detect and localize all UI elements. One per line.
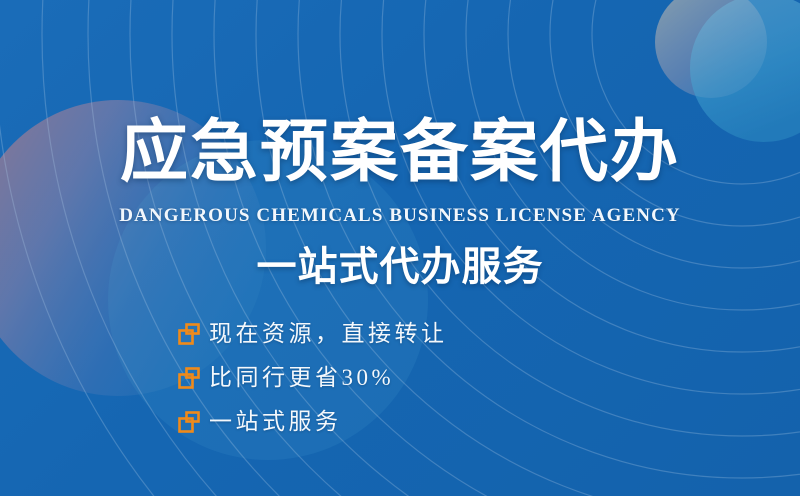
- feature-list: 现在资源，直接转让 比同行更省30% 一站式: [178, 316, 638, 448]
- promo-banner: 应急预案备案代办 DANGEROUS CHEMICALS BUSINESS LI…: [0, 0, 800, 496]
- list-item: 比同行更省30%: [178, 360, 638, 396]
- page-title: 应急预案备案代办: [0, 113, 800, 193]
- banner-content: 应急预案备案代办 DANGEROUS CHEMICALS BUSINESS LI…: [0, 0, 800, 496]
- service-tagline: 一站式代办服务: [0, 243, 800, 291]
- list-item: 现在资源，直接转让: [178, 316, 638, 352]
- list-item-label: 现在资源，直接转让: [209, 319, 448, 349]
- list-item-label: 一站式服务: [209, 407, 342, 437]
- two-overlapping-squares-icon: [178, 323, 200, 345]
- two-overlapping-squares-icon: [178, 367, 200, 389]
- list-item: 一站式服务: [178, 404, 638, 440]
- list-item-label: 比同行更省30%: [209, 363, 394, 393]
- two-overlapping-squares-icon: [178, 411, 200, 433]
- english-subtitle: DANGEROUS CHEMICALS BUSINESS LICENSE AGE…: [0, 204, 800, 228]
